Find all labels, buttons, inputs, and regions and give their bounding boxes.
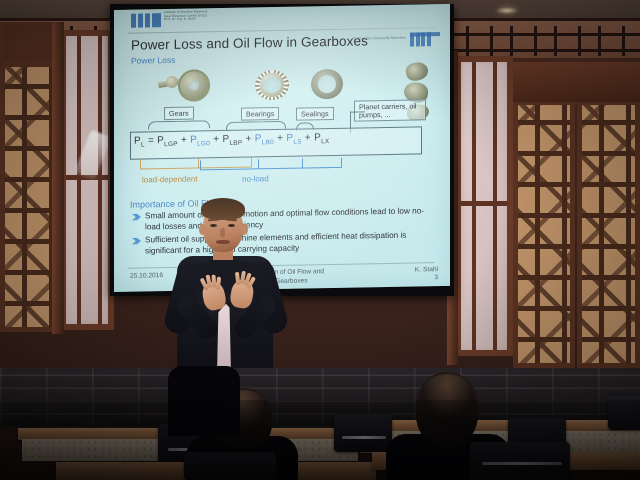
slide-title: Power Loss and Oil Flow in Gearboxes	[131, 33, 368, 52]
door-frame-right	[455, 56, 513, 356]
room-background: Institute of Machine Elements Gear Resea…	[0, 0, 640, 480]
seal-photo	[310, 68, 344, 101]
bullet-marker-2	[132, 237, 141, 246]
formula-lhs: P	[134, 136, 141, 147]
fzg-logo-line3: Prof. Dr.-Ing. K. Stahl	[164, 17, 218, 21]
presenter-mouth	[216, 240, 230, 244]
fzg-logo: Institute of Machine Elements Gear Resea…	[131, 10, 217, 32]
lecture-photo: Institute of Machine Elements Gear Resea…	[0, 0, 640, 480]
university-name: Technische Universität München	[353, 36, 406, 41]
no-load-tick-2	[302, 159, 303, 168]
formula-equals: =	[148, 135, 154, 146]
op-2: +	[213, 134, 219, 145]
no-load-bracket	[200, 158, 342, 171]
paper-door-left	[60, 30, 114, 330]
presenter-nose	[220, 228, 225, 237]
bullet-marker-1	[132, 213, 141, 222]
chair-2-chrome	[342, 436, 386, 439]
term-ls-sub: LS	[293, 139, 301, 146]
panel-header-frame	[0, 22, 60, 64]
audience-right-hair-sheen	[420, 374, 474, 420]
formula-lhs-sub: L	[141, 141, 145, 148]
slide-footer-author: K. Stahl	[415, 266, 438, 273]
presenter	[163, 196, 291, 392]
door-post-left	[52, 22, 64, 334]
op-4: +	[277, 133, 283, 144]
panel-header-rail-right	[513, 62, 640, 102]
lattice-panel-right-a	[513, 100, 575, 368]
gear-photo	[158, 70, 214, 103]
ceiling-light	[497, 7, 517, 14]
bearing-photo	[254, 69, 292, 102]
presenter-ear-left	[199, 224, 206, 235]
presenter-ear-right	[241, 224, 248, 235]
load-dependent-label: load-dependent	[142, 174, 198, 184]
panel-frame	[0, 62, 60, 332]
gears-label: Gears	[164, 107, 194, 121]
no-load-label: no-load	[242, 174, 269, 183]
sealings-label: Sealings	[296, 107, 334, 121]
planet-carrier-part-1	[404, 60, 429, 83]
chair-front-2	[470, 442, 570, 480]
chair-4	[608, 396, 640, 430]
term-lg0-sub: LG0	[197, 140, 210, 147]
audience-member-left-rear	[168, 366, 240, 436]
gears-brace	[148, 120, 210, 129]
term-lgp-sub: LGP	[164, 141, 178, 148]
presenter-eye-left	[210, 224, 217, 227]
door-frame	[60, 30, 114, 330]
term-lb0-sub: LB0	[262, 139, 274, 146]
fzg-logo-mark	[131, 13, 161, 28]
no-load-tick-1	[258, 159, 259, 168]
panel-frame-right-b	[577, 100, 640, 368]
slide-footer-page: 3	[434, 274, 438, 281]
lattice-panel-right-b	[577, 100, 640, 368]
term-lx-sub: LX	[321, 138, 329, 145]
slide-footer-date: 25.10.2016	[130, 272, 163, 280]
chair-front-2-chrome	[482, 462, 562, 465]
bearings-label: Bearings	[241, 107, 279, 121]
tum-logo-bar	[410, 32, 440, 36]
op-3: +	[246, 133, 252, 144]
presenter-eye-right	[228, 224, 235, 227]
gear-pinion	[166, 76, 178, 88]
lattice-panel-left	[0, 62, 60, 332]
panel-frame-right-a	[513, 100, 575, 368]
presenter-hair	[201, 198, 245, 220]
chair-front-1	[184, 452, 276, 480]
op-1: +	[181, 135, 187, 146]
term-lb0: P	[255, 133, 262, 144]
op-5: +	[305, 132, 311, 143]
paper-door-right	[455, 56, 513, 356]
term-lbp-sub: LBP	[229, 140, 242, 147]
section-heading-power-loss: Power Loss	[131, 55, 175, 66]
lattice-panel-left-header	[0, 22, 60, 64]
